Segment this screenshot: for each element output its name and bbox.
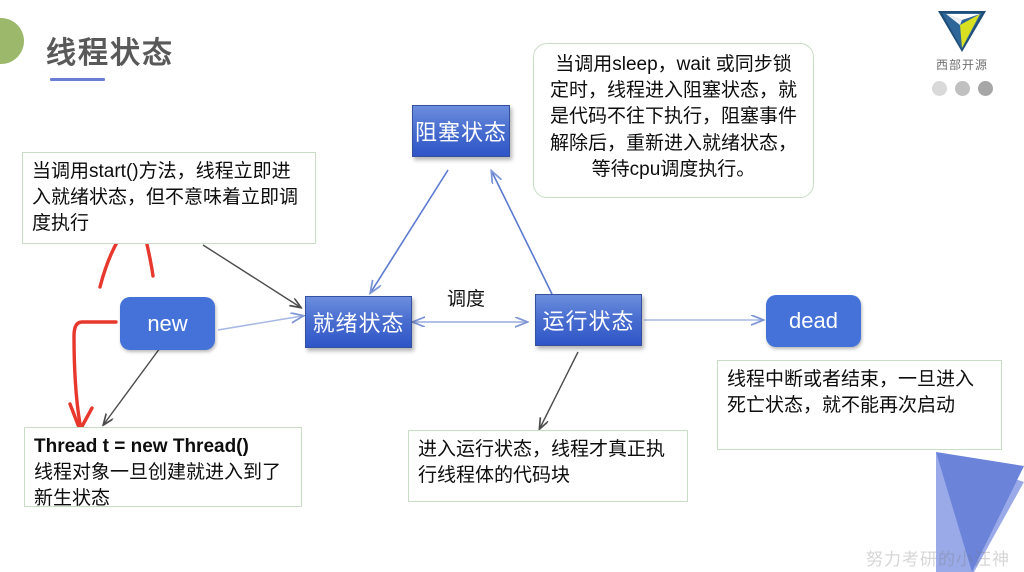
edge-label-schedule: 调度	[447, 284, 485, 311]
state-node-dead[interactable]: dead	[766, 295, 861, 347]
state-node-ready[interactable]: 就绪状态	[305, 296, 412, 348]
state-node-new[interactable]: new	[120, 297, 215, 350]
state-node-running-label: 运行状态	[542, 304, 634, 336]
callout-new-note-text: 线程对象一旦创建就进入到了新生状态	[34, 460, 292, 512]
state-node-new-label: new	[147, 311, 187, 337]
state-node-running[interactable]: 运行状态	[535, 294, 642, 346]
decor-green-circle	[0, 18, 24, 64]
state-node-ready-label: 就绪状态	[312, 306, 404, 338]
title-underline	[50, 78, 105, 81]
logo-dots	[918, 81, 1006, 96]
callout-new-note: Thread t = new Thread() 线程对象一旦创建就进入到了新生状…	[24, 427, 302, 507]
callout-new-note-code: Thread t = new Thread()	[34, 434, 292, 460]
watermark-text: 努力考研的小汪神	[866, 545, 1010, 570]
state-node-blocked-label: 阻塞状态	[415, 115, 507, 147]
brand-logo: 西部开源	[918, 8, 1006, 96]
page-title: 线程状态	[46, 28, 174, 72]
callout-start-note: 当调用start()方法，线程立即进入就绪状态，但不意味着立即调度执行	[22, 152, 316, 244]
slide-canvas: 线程状态 西部开源	[0, 0, 1024, 572]
callout-dead-note: 线程中断或者结束，一旦进入死亡状态，就不能再次启动	[717, 360, 1002, 450]
callout-blocked-note: 当调用sleep，wait 或同步锁定时，线程进入阻塞状态，就是代码不往下执行，…	[533, 43, 814, 198]
brand-logo-text: 西部开源	[918, 56, 1006, 73]
v-logo-icon	[936, 8, 988, 54]
state-node-dead-label: dead	[789, 308, 838, 334]
state-node-blocked[interactable]: 阻塞状态	[412, 105, 510, 157]
callout-running-note: 进入运行状态，线程才真正执行线程体的代码块	[408, 430, 688, 502]
